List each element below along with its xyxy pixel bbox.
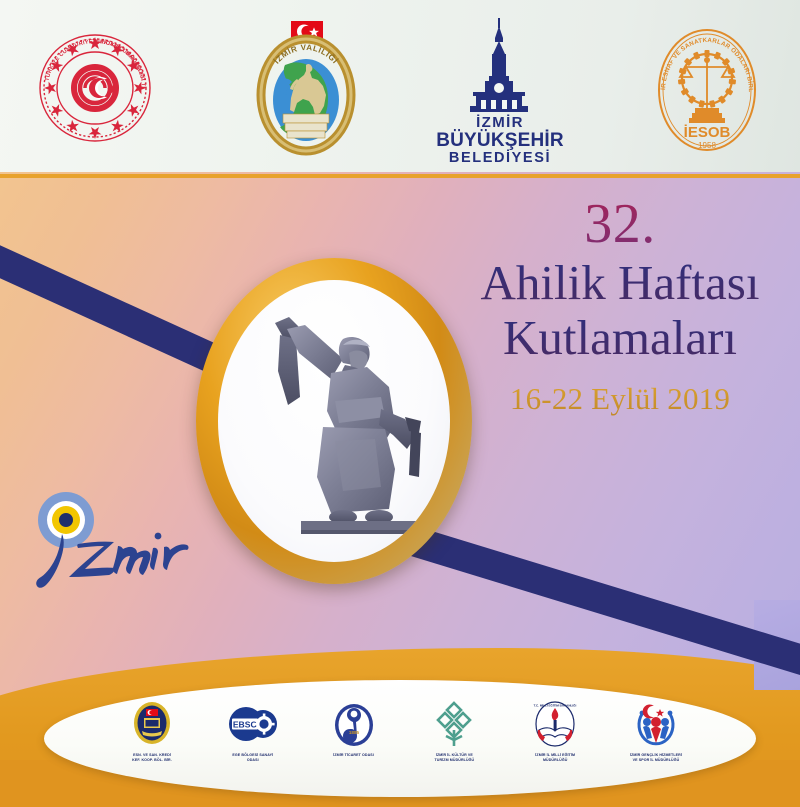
chamber-of-commerce-icon: 1885	[333, 698, 375, 750]
title-line-1: Ahilik Haftası	[455, 257, 785, 310]
logo-ticaret-bakanligi: TÜRKİYE CUMHURİYETİ TİCARET BAKANLIĞI TÜ…	[30, 28, 160, 148]
sponsor-caption-line1: İZMİR TİCARET ODASI	[333, 753, 374, 758]
sponsor-caption-line2: VE SPOR İL MÜDÜRLÜĞÜ	[633, 758, 680, 763]
izmir-evil-eye-icon	[22, 589, 202, 606]
edition-number: 32.	[455, 196, 785, 253]
iesob-abbr: İESOB	[684, 124, 731, 141]
logo-izmir-buyuksehir-belediyesi: İZMİR BÜYÜKŞEHİR BELEDİYESİ	[432, 22, 568, 162]
torch-book-icon: T.C. MİLLİ EĞİTİM BAKANLIĞI	[533, 698, 577, 750]
statue-medallion	[196, 258, 472, 584]
header-logo-bar: TÜRKİYE CUMHURİYETİ TİCARET BAKANLIĞI TÜ…	[0, 0, 800, 172]
poster-canvas: TÜRKİYE CUMHURİYETİ TİCARET BAKANLIĞI TÜ…	[0, 0, 800, 807]
clock-tower-icon	[432, 18, 568, 114]
sponsor-ellipse: ESN. VE SAN. KREDİ KEF. KOOP. BÖL. BİR. …	[44, 680, 756, 797]
sponsor-caption-line2: TURİZM MÜDÜRLÜĞÜ	[435, 758, 475, 763]
seljuk-knot-icon	[434, 698, 474, 750]
ahi-evran-statue-icon	[239, 301, 429, 562]
sponsor-genclik-spor: İZMİR GENÇLİK HİZMETLERİ VE SPOR İL MÜDÜ…	[608, 698, 704, 763]
logo-iesob: İZMİR ESNAF VE SANATKARLAR ODALARI BİRLİ…	[646, 22, 768, 162]
sponsor-caption-line2: KEF. KOOP. BÖL. BİR.	[132, 758, 172, 763]
iesob-year: 1958	[698, 141, 716, 150]
sponsor-izmir-ticaret-odasi: 1885 İZMİR TİCARET ODASI	[306, 698, 402, 758]
izmir-city-brand	[22, 484, 202, 604]
credit-guarantee-crest-icon	[132, 698, 172, 750]
svg-text:T.C. MİLLİ EĞİTİM BAKANLIĞI: T.C. MİLLİ EĞİTİM BAKANLIĞI	[534, 703, 577, 708]
governorship-crest-icon: İZMİR VALİLİĞİ	[247, 19, 365, 157]
ministry-seal-icon: TÜRKİYE CUMHURİYETİ TİCARET BAKANLIĞI TÜ…	[33, 29, 157, 147]
belediye-line-buyuksehir: BÜYÜKŞEHİR	[436, 131, 564, 151]
sponsor-caption-line2: MÜDÜRLÜĞÜ	[543, 758, 567, 763]
sponsor-caption-line2: ODASI	[247, 758, 259, 763]
medallion-inner-disc	[218, 280, 450, 562]
sponsor-ebso: EBSO	[205, 698, 301, 763]
belediye-line-belediyesi: BELEDİYESİ	[436, 151, 564, 166]
youth-sports-icon	[633, 698, 679, 750]
sponsor-logo-row: ESN. VE SAN. KREDİ KEF. KOOP. BÖL. BİR. …	[104, 698, 704, 782]
ito-year: 1885	[348, 730, 359, 735]
belediye-line-izmir: İZMİR	[436, 115, 564, 131]
scales-gear-crest-icon: İZMİR ESNAF VE SANATKARLAR ODALARI BİRLİ…	[648, 24, 766, 160]
sponsor-milli-egitim: T.C. MİLLİ EĞİTİM BAKANLIĞI İZMİR İL MİL…	[507, 698, 603, 763]
event-dates: 16-22 Eylül 2019	[455, 381, 785, 417]
gold-divider-line	[0, 174, 800, 178]
sponsor-esnaf-kredi-kefalet: ESN. VE SAN. KREDİ KEF. KOOP. BÖL. BİR.	[104, 698, 200, 763]
sponsor-kultur-turizm: İZMİR İL KÜLTÜR VE TURİZM MÜDÜRLÜĞÜ	[406, 698, 502, 763]
ebso-gear-icon: EBSO	[227, 698, 279, 750]
title-line-2: Kutlamaları	[455, 312, 785, 365]
title-block: 32. Ahilik Haftası Kutlamaları 16-22 Eyl…	[455, 196, 785, 417]
logo-izmir-valiligi: İZMİR VALİLİĞİ	[246, 18, 366, 158]
